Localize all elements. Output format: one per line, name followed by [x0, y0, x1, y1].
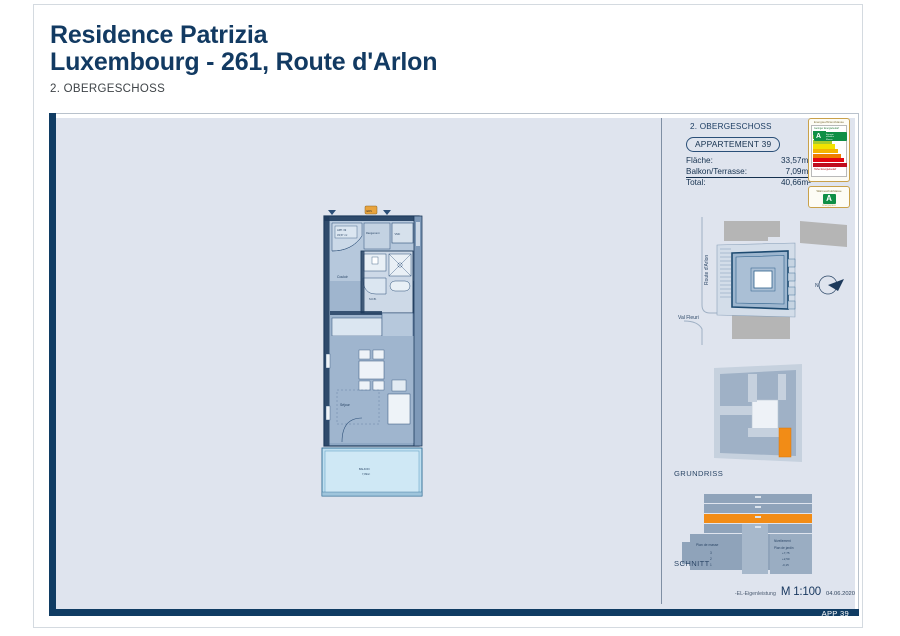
thermal-badge-footer: Energiepass [809, 204, 849, 207]
bathroom: S.D.B. [361, 251, 413, 313]
area-table: Fläche: 33,57m² Balkon/Terrasse: 7,09m² … [686, 156, 811, 189]
plan-footer: -EL-Eigenleistung M 1:100 04.06.2020 [662, 584, 855, 598]
area-value-total: 40,66m² [781, 178, 811, 189]
highlighted-apartment [779, 428, 791, 457]
svg-text:EDS: EDS [367, 209, 373, 213]
svg-text:+7,75: +7,75 [782, 551, 790, 555]
grundriss-label: GRUNDRISS [674, 469, 723, 478]
area-label-flaeche: Fläche: [686, 156, 713, 167]
area-row-balkon: Balkon/Terrasse: 7,09m² [686, 167, 811, 179]
energy-bar-d [813, 144, 846, 148]
plan-date: 04.06.2020 [826, 591, 855, 599]
svg-text:2: 2 [710, 557, 712, 561]
compass-rose: N [815, 276, 844, 294]
area-label-total: Total: [686, 178, 706, 189]
site-plan: Route d'Arlon Val Fleuri [662, 213, 855, 348]
document-header: Residence Patrizia Luxembourg - 261, Rou… [50, 22, 810, 95]
svg-text:1: 1 [710, 563, 712, 567]
app-code-footer: APP 39 [822, 609, 849, 618]
floor-plan-svg: VMC APP. 39 33,57 m² Rangement [56, 118, 661, 604]
apartment-tag: APP. 39 [337, 228, 347, 232]
floor-plan-drawing: VMC APP. 39 33,57 m² Rangement [56, 118, 661, 604]
thermal-label-badge: Wärmeschutzklasse A Energiepass [808, 186, 850, 208]
schnitt-right-col-2: Plan de jardin [774, 546, 794, 550]
plan-top-symbols: EDS [328, 206, 391, 215]
room-label-sdb: S.D.B. [369, 297, 377, 301]
schnitt-label: SCHNITT [674, 559, 710, 568]
grundriss-svg [662, 358, 855, 483]
thermal-badge-header: Wärmeschutzklasse [809, 187, 849, 193]
svg-text:3: 3 [710, 551, 712, 555]
room-label-sejour: Séjour [340, 403, 351, 407]
vmc-label: VMC [395, 232, 401, 236]
apartment-tag-area: 33,57 m² [337, 233, 347, 237]
el-note: -EL-Eigenleistung [735, 591, 776, 599]
highlighted-floor [704, 514, 812, 523]
info-panel: 2. OBERGESCHOSS APPARTEMENT 39 Fläche: 3… [662, 118, 855, 604]
energy-bar-g [813, 158, 846, 162]
page-root: Residence Patrizia Luxembourg - 261, Rou… [0, 0, 900, 636]
energy-bar-e [813, 149, 846, 153]
energy-scale: Geringer Energiebedarf Hoher Energiebeda… [811, 125, 847, 177]
site-plan-svg: Route d'Arlon Val Fleuri [662, 213, 855, 348]
energy-label-badge: Energieeffizienzklasse Geringer Energieb… [808, 118, 850, 182]
balcony-area: 7,09m² [362, 472, 370, 476]
thermal-rating-letter: A [823, 194, 836, 204]
schnitt-left-col: Plan de masse [696, 543, 719, 547]
room-label-rangement: Rangement [366, 231, 380, 235]
site-street-horizontal: Val Fleuri [678, 315, 699, 321]
panel-floor-label: 2. OBERGESCHOSS [690, 122, 772, 131]
energy-bar-f [813, 154, 846, 158]
site-street-vertical: Route d'Arlon [704, 255, 710, 285]
area-row-flaeche: Fläche: 33,57m² [686, 156, 811, 167]
balcony: BALKON 7,09m² [322, 448, 422, 496]
scale-label: M 1:100 [781, 586, 821, 598]
living-room: Séjour [326, 336, 414, 443]
area-value-flaeche: 33,57m² [781, 156, 811, 167]
energy-rating-letter: A [816, 132, 821, 141]
energy-bar-h [813, 163, 846, 167]
frame-accent-bottom [49, 609, 859, 616]
shaft-edge [414, 216, 422, 446]
frame-accent-left [49, 113, 56, 616]
svg-text:+2,50: +2,50 [782, 557, 790, 561]
energy-badge-header: Energieeffizienzklasse [809, 119, 849, 124]
area-row-total: Total: 40,66m² [686, 178, 811, 189]
room-label-couloir: Couloir [337, 275, 349, 279]
svg-text:-0,15: -0,15 [782, 563, 789, 567]
schnitt-right-col-1: Nivellement [774, 539, 791, 543]
page-title-line1: Residence Patrizia [50, 22, 810, 49]
apartment-badge: APPARTEMENT 39 [686, 137, 780, 152]
area-label-balkon: Balkon/Terrasse: [686, 167, 747, 178]
page-subtitle: 2. OBERGESCHOSS [50, 83, 810, 95]
page-title-line2: Luxembourg - 261, Route d'Arlon [50, 49, 810, 76]
grundriss-key [662, 358, 855, 483]
compass-north-label: N [815, 283, 819, 289]
balcony-label: BALKON [359, 467, 370, 471]
